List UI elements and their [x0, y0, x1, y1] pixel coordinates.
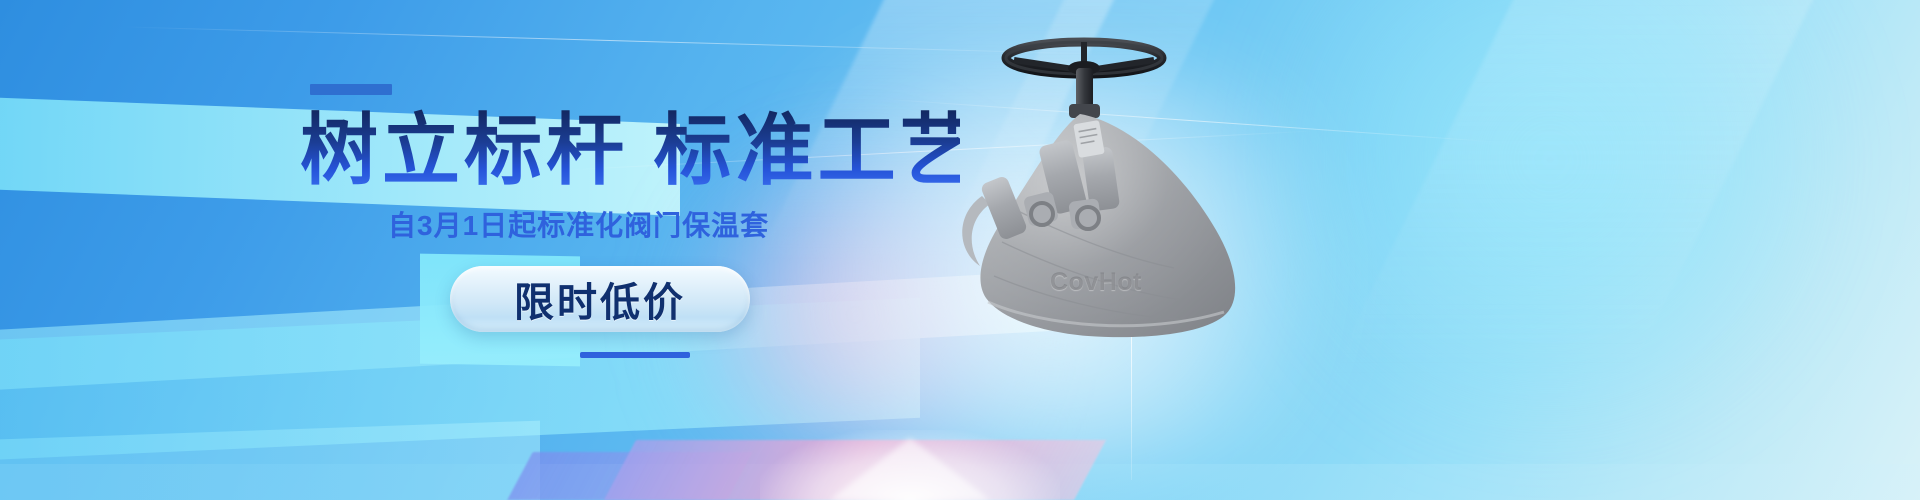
underline-accent-bar [580, 352, 690, 358]
bottom-triangle-shape [830, 438, 990, 500]
bottom-purple-shape [507, 452, 753, 500]
product-image: CovHot [930, 18, 1270, 358]
cta-button-label: 限时低价 [514, 270, 686, 328]
bottom-white-glow [760, 430, 1060, 500]
diagonal-ribbon-5 [0, 421, 540, 500]
copy-block: 树立标杆 标准工艺 自3月1日起标准化阀门保温套 限时低价 [300, 84, 960, 358]
subtitle: 自3月1日起标准化阀门保温套 [388, 204, 960, 244]
bottom-pink-shape [604, 440, 1106, 500]
bottom-band [0, 464, 1920, 500]
accent-dash-icon [310, 84, 392, 95]
light-beam-c [1328, 0, 1833, 380]
promo-banner: 树立标杆 标准工艺 自3月1日起标准化阀门保温套 限时低价 [0, 0, 1920, 500]
limited-time-price-button[interactable]: 限时低价 [450, 266, 750, 332]
headline: 树立标杆 标准工艺 [300, 109, 960, 192]
cta-wrapper: 限时低价 [450, 266, 960, 332]
cyan-glow-right [1240, 0, 1860, 440]
